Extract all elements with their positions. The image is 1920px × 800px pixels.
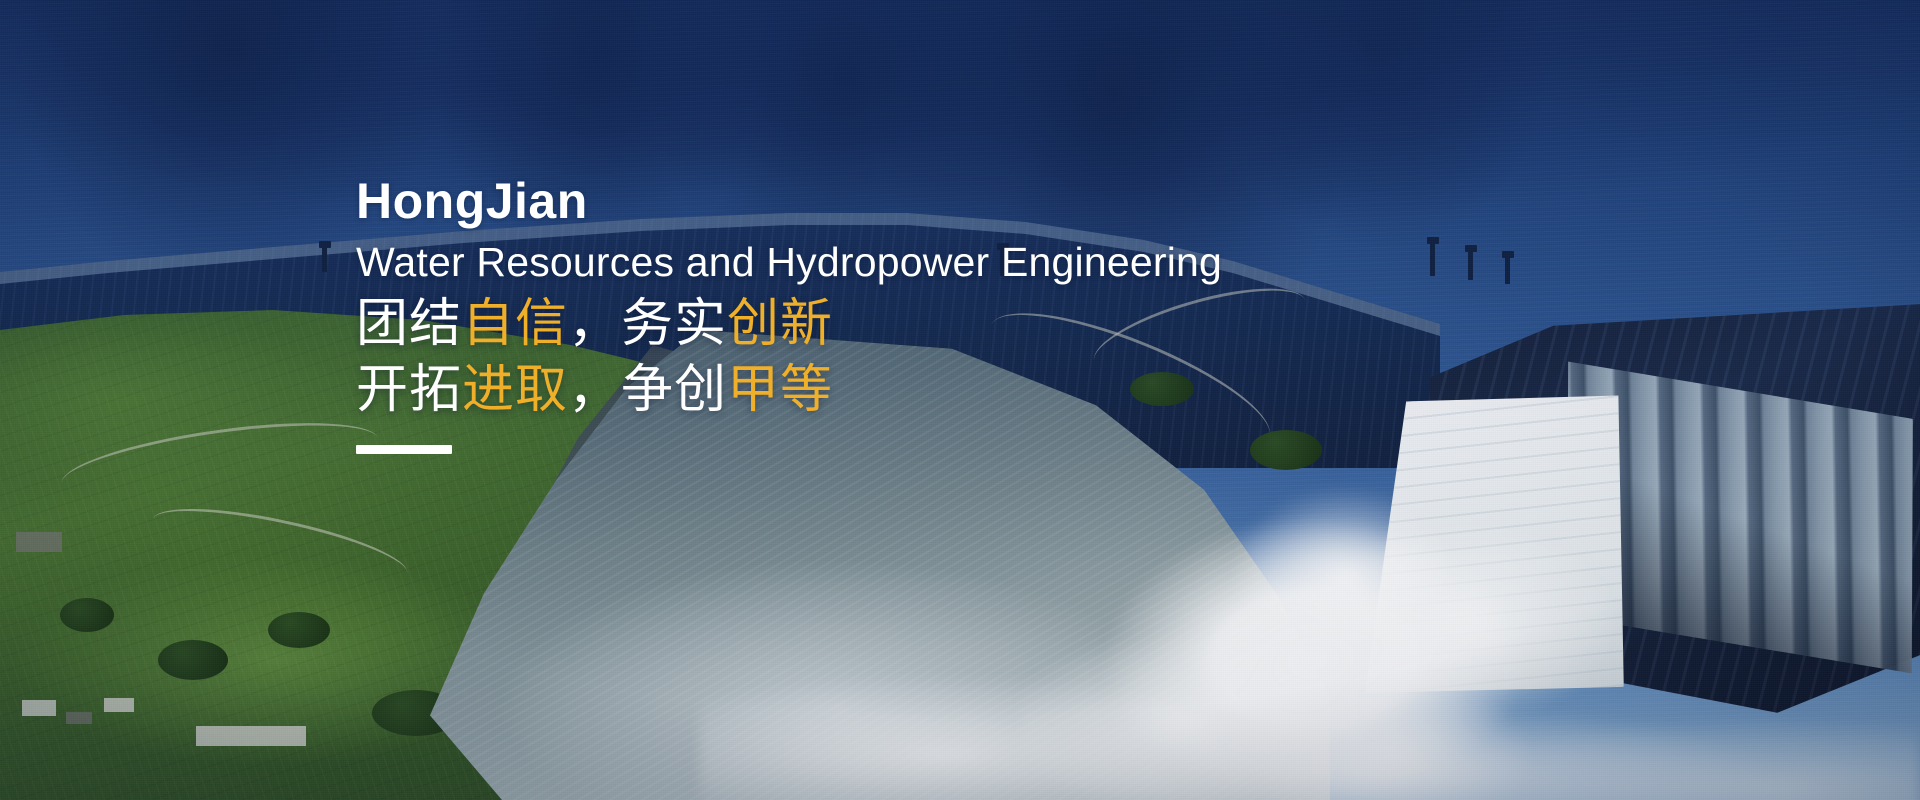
hero-copy-block: HongJian Water Resources and Hydropower … (356, 176, 1222, 454)
slogan-2-segment-plain-b: ，争创 (568, 361, 727, 419)
accent-divider-rule (356, 445, 452, 454)
transmission-pylon-icon (1468, 250, 1473, 280)
brand-subtitle: Water Resources and Hydropower Engineeri… (356, 240, 1222, 284)
building (16, 532, 62, 552)
slogan-2-segment-accent-b: 甲等 (727, 361, 833, 419)
transmission-pylon-icon (1505, 256, 1510, 284)
building (104, 698, 134, 712)
tree-cluster (268, 612, 330, 648)
spray-plume-core (1180, 460, 1510, 690)
slogan-2-segment-accent-a: 进取 (462, 361, 568, 419)
building (196, 726, 306, 746)
hero-banner: HongJian Water Resources and Hydropower … (0, 0, 1920, 800)
brand-title: HongJian (356, 176, 1222, 226)
transmission-pylon-icon (1430, 242, 1435, 276)
slogan-1-segment-accent-a: 自信 (462, 295, 568, 353)
building (66, 712, 92, 724)
tree-cluster (158, 640, 228, 680)
slogan-line-1: 团结自信，务实创新 (356, 292, 1222, 358)
slogan-1-segment-accent-b: 创新 (727, 295, 833, 353)
slogan-1-segment-plain-b: ，务实 (568, 295, 727, 353)
tree-cluster (60, 598, 114, 632)
slogan-2-segment-plain-a: 开拓 (356, 361, 462, 419)
slogan-1-segment-plain-a: 团结 (356, 295, 462, 353)
building (22, 700, 56, 716)
tailrace-foam (700, 660, 1920, 800)
slogan-line-2: 开拓进取，争创甲等 (356, 358, 1222, 424)
transmission-pylon-icon (322, 246, 327, 272)
